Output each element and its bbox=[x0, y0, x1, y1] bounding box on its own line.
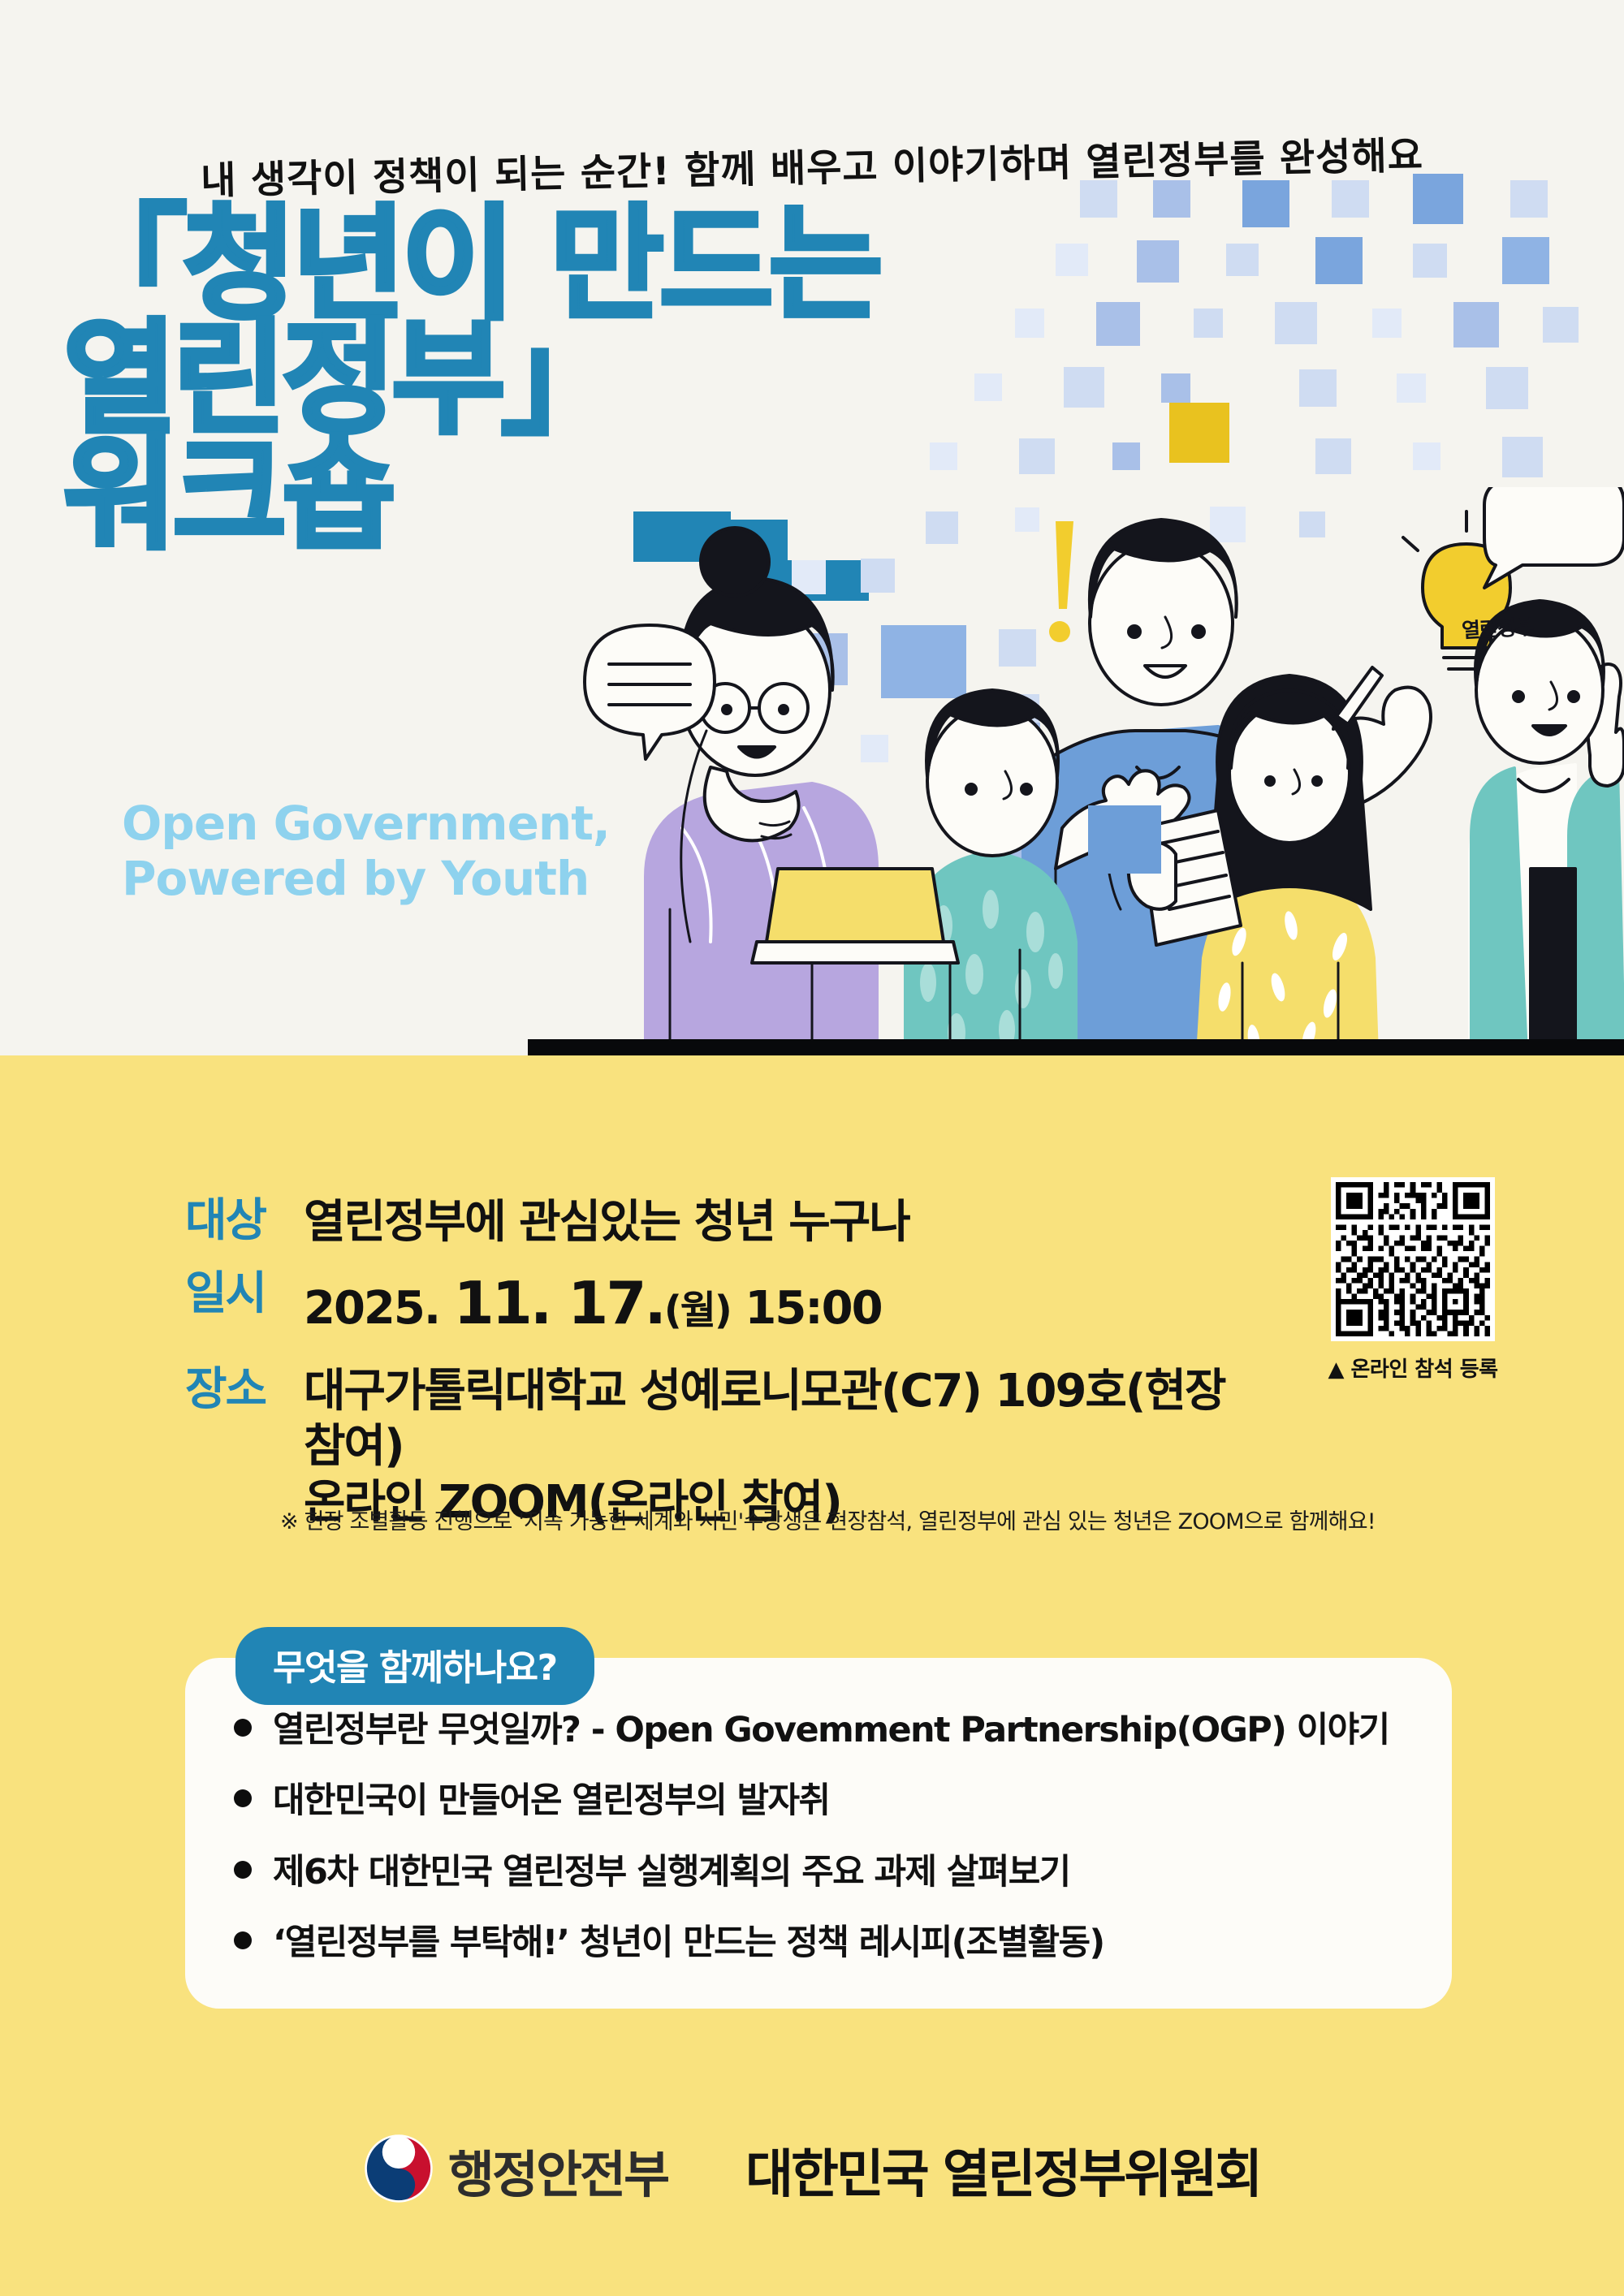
list-item: 대한민국이 만들어온 열린정부의 발자취 bbox=[234, 1782, 1436, 1820]
poster-header-area: 내 생각이 정책이 되는 순간! 함께 배우고 이야기하며 열린정부를 완성해요… bbox=[0, 0, 1624, 1055]
program-item-text: ‘열린정부를 부탁해!’ 청년이 만드는 정책 레시피(조별활동) bbox=[273, 1924, 1104, 1962]
info-label-place: 장소 bbox=[185, 1364, 291, 1416]
datetime-year: 2025. bbox=[304, 1282, 454, 1335]
info-value-target: 열린정부에 관심있는 청년 누구나 bbox=[304, 1195, 909, 1250]
qr-code-caption: ▲ 온라인 참석 등록 bbox=[1319, 1353, 1506, 1383]
committee-name: 대한민국 열린정부위원회 bbox=[745, 2133, 1260, 2208]
person-teal bbox=[1470, 601, 1624, 1055]
program-list: 열린정부란 무엇일까? - Open Govemment Partnership… bbox=[234, 1711, 1436, 1995]
info-label-target: 대상 bbox=[185, 1195, 291, 1247]
bullet-dot-icon bbox=[234, 1861, 252, 1879]
info-label-datetime: 일시 bbox=[185, 1268, 291, 1320]
list-item: ‘열린정부를 부탁해!’ 청년이 만드는 정책 레시피(조별활동) bbox=[234, 1924, 1436, 1962]
subtitle-line-2: Powered by Youth bbox=[122, 851, 610, 906]
info-row-target: 대상 열린정부에 관심있는 청년 누구나 bbox=[185, 1195, 1257, 1250]
datetime-date: 11. 17. bbox=[454, 1269, 664, 1337]
poster-body-area: 대상 열린정부에 관심있는 청년 누구나 일시 2025. 11. 17.(월)… bbox=[0, 1055, 1624, 2296]
exclamation-mark-icon bbox=[1049, 521, 1073, 642]
subtitle-line-1: Open Government, bbox=[122, 796, 610, 851]
event-info-block: 대상 열린정부에 관심있는 청년 누구나 일시 2025. 11. 17.(월)… bbox=[185, 1195, 1257, 1548]
speech-bubble-open-government bbox=[1484, 487, 1624, 588]
program-item-text: 제6차 대한민국 열린정부 실행계획의 주요 과제 살펴보기 bbox=[273, 1854, 1070, 1892]
qr-code-block[interactable]: ▲ 온라인 참석 등록 bbox=[1319, 1177, 1506, 1383]
title-line-2: 열린정부」 bbox=[63, 322, 957, 436]
program-item-text: 열린정부란 무엇일까? - Open Govemment Partnership… bbox=[273, 1711, 1389, 1750]
place-line-1: 대구가톨릭대학교 성예로니모관(C7) 109호(현장참여) bbox=[304, 1364, 1257, 1475]
qr-code-image[interactable] bbox=[1331, 1177, 1495, 1341]
poster-footer: 행정안전부 대한민국 열린정부위원회 bbox=[0, 2117, 1624, 2223]
title-line-1: 「청년이 만드는 bbox=[63, 207, 957, 322]
bullet-dot-icon bbox=[234, 1789, 252, 1807]
bullet-dot-icon bbox=[234, 1931, 252, 1949]
speech-bubble-label: 열린정부 bbox=[1461, 611, 1534, 645]
bullet-dot-icon bbox=[234, 1719, 252, 1737]
event-note: ※ 현장 조별활동 진행으로 '지속 가능한 세계와 시민'수강생은 현장참석,… bbox=[280, 1504, 1376, 1535]
program-item-text: 대한민국이 만들어온 열린정부의 발자취 bbox=[273, 1782, 829, 1820]
program-card-badge: 무엇을 함께하나요? bbox=[235, 1627, 594, 1705]
datetime-time: 15:00 bbox=[731, 1282, 882, 1335]
poster-subtitle: Open Government, Powered by Youth bbox=[122, 796, 610, 907]
person-purple bbox=[646, 528, 877, 1055]
ministry-name: 행정안전부 bbox=[448, 2134, 667, 2207]
laptop-icon bbox=[752, 869, 958, 963]
people-illustration bbox=[568, 487, 1624, 1055]
poster-root: 내 생각이 정책이 되는 순간! 함께 배우고 이야기하며 열린정부를 완성해요… bbox=[0, 0, 1624, 2296]
info-value-datetime: 2025. 11. 17.(월) 15:00 bbox=[304, 1268, 882, 1340]
list-item: 제6차 대한민국 열린정부 실행계획의 주요 과제 살펴보기 bbox=[234, 1854, 1436, 1892]
taegeuk-logo-icon bbox=[364, 2134, 434, 2208]
info-row-datetime: 일시 2025. 11. 17.(월) 15:00 bbox=[185, 1268, 1257, 1340]
ministry-brand: 행정안전부 bbox=[364, 2134, 667, 2208]
datetime-weekday: (월) bbox=[664, 1288, 731, 1333]
list-item: 열린정부란 무엇일까? - Open Govemment Partnership… bbox=[234, 1711, 1436, 1750]
